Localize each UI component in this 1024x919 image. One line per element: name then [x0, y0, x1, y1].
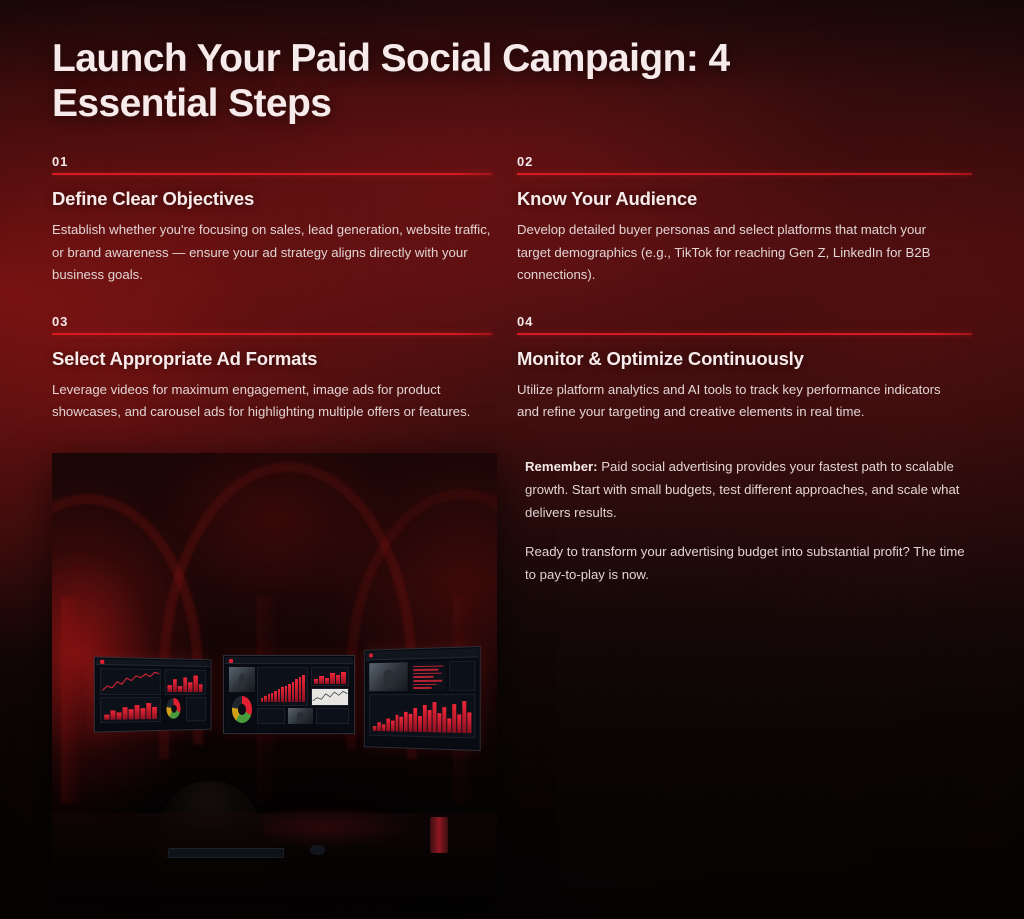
news-feed-panel: [410, 661, 447, 691]
step-divider-rule: [517, 173, 972, 175]
monitor-center: [223, 655, 354, 733]
bar-chart-icon: [373, 700, 471, 734]
dashboard-toolbar: [366, 648, 479, 660]
line-chart-icon: [312, 689, 348, 705]
step-divider-rule: [52, 173, 492, 175]
step-title: Know Your Audience: [517, 188, 972, 210]
chart-panel: [257, 667, 308, 706]
metric-panel: [449, 661, 475, 691]
record-dot-icon: [369, 653, 373, 657]
bar-chart-icon: [168, 674, 203, 691]
remember-label: Remember:: [525, 459, 598, 474]
lower-section: Remember: Paid social advertising provid…: [52, 453, 972, 902]
step-card-01: 01 Define Clear Objectives Establish whe…: [52, 154, 492, 288]
metric-panel: [187, 697, 206, 721]
monitor-screen: [225, 657, 352, 731]
chart-panel: [311, 667, 349, 686]
record-dot-icon: [229, 659, 233, 663]
remember-paragraph-2: Ready to transform your advertising budg…: [525, 541, 972, 586]
donut-chart-icon: [232, 696, 252, 723]
page-content: Launch Your Paid Social Campaign: 4 Esse…: [0, 0, 1024, 919]
line-chart-icon: [101, 669, 160, 694]
monitor-screen: [96, 659, 210, 731]
video-feed-panel: [369, 662, 408, 691]
donut-chart-icon: [167, 698, 181, 718]
chart-panel: [100, 668, 161, 695]
metric-panel: [257, 708, 285, 724]
drink-can: [430, 817, 448, 853]
monitor-right: [364, 646, 481, 752]
step-card-03: 03 Select Appropriate Ad Formats Leverag…: [52, 314, 492, 425]
step-number: 01: [52, 154, 492, 169]
metric-panel: [316, 708, 349, 724]
video-feed-thumbnail: [229, 667, 254, 692]
monitor-screen: [366, 648, 479, 749]
steps-grid: 01 Define Clear Objectives Establish whe…: [52, 154, 972, 425]
step-body: Utilize platform analytics and AI tools …: [517, 379, 959, 423]
video-feed-thumbnail: [288, 708, 313, 724]
step-divider-rule: [517, 333, 972, 335]
page-title: Launch Your Paid Social Campaign: 4 Esse…: [52, 36, 812, 126]
sparkline-panel: [311, 688, 349, 706]
bar-chart-icon: [104, 702, 157, 720]
keyboard: [167, 848, 284, 858]
step-card-04: 04 Monitor & Optimize Continuously Utili…: [517, 314, 972, 425]
step-number: 03: [52, 314, 492, 329]
dashboard-toolbar: [96, 659, 210, 668]
mouse: [310, 845, 325, 855]
record-dot-icon: [100, 660, 104, 664]
dashboard-toolbar: [225, 657, 352, 664]
chart-panel: [164, 669, 205, 695]
remember-paragraph-1: Remember: Paid social advertising provid…: [525, 456, 972, 524]
workstation-photo: [52, 453, 497, 902]
step-number: 04: [517, 314, 972, 329]
chart-panel: [100, 697, 161, 723]
step-title: Define Clear Objectives: [52, 188, 492, 210]
step-card-02: 02 Know Your Audience Develop detailed b…: [517, 154, 972, 288]
monitor-left: [94, 657, 212, 733]
step-title: Select Appropriate Ad Formats: [52, 348, 492, 370]
step-body: Leverage videos for maximum engagement, …: [52, 379, 492, 423]
bar-chart-icon: [314, 671, 346, 683]
remember-callout: Remember: Paid social advertising provid…: [525, 453, 972, 902]
bar-chart-icon: [261, 673, 305, 702]
step-divider-rule: [52, 333, 492, 335]
step-number: 02: [517, 154, 972, 169]
chart-panel: [369, 694, 476, 738]
step-title: Monitor & Optimize Continuously: [517, 348, 972, 370]
step-body: Establish whether you're focusing on sal…: [52, 219, 492, 286]
step-body: Develop detailed buyer personas and sele…: [517, 219, 959, 286]
